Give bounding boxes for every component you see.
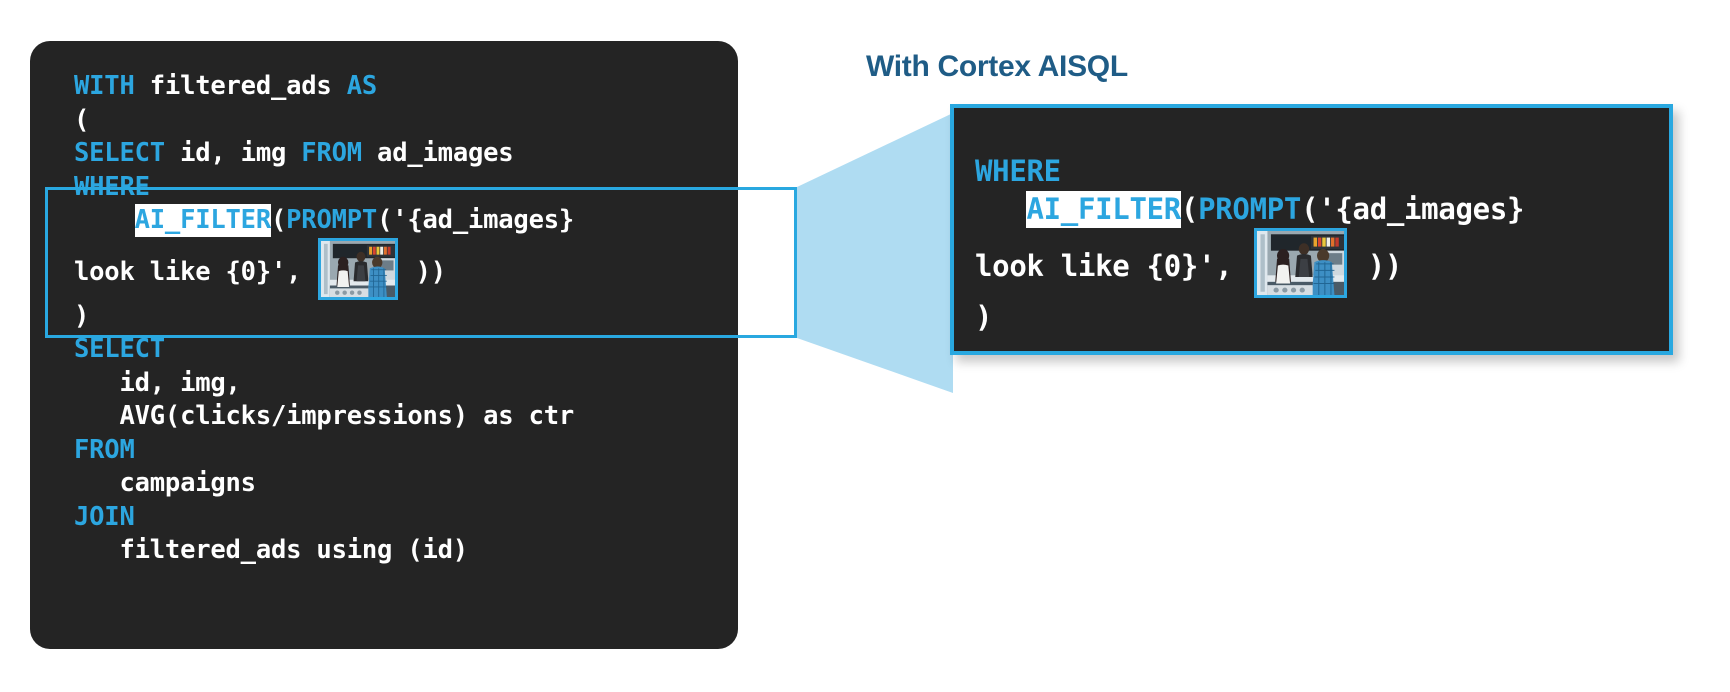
cortex-aisql-panel: WHERE AI_FILTER(PROMPT('{ad_images} look… <box>950 104 1673 355</box>
right-code-block: WHERE AI_FILTER(PROMPT('{ad_images} look… <box>975 152 1524 336</box>
sql-function: PROMPT <box>1198 192 1301 226</box>
ad-image-thumbnail <box>1254 228 1347 298</box>
left-code-block: WITH filtered_ads AS ( SELECT id, img FR… <box>74 70 574 568</box>
sql-keyword: WHERE <box>74 172 150 202</box>
code-text: ) <box>975 300 992 334</box>
code-text: ('{ad_images} <box>1301 192 1524 226</box>
code-text: look like {0}', <box>74 257 316 287</box>
code-text: campaigns <box>74 468 256 498</box>
ad-image-thumbnail <box>318 238 398 300</box>
code-text: look like {0}', <box>975 249 1250 283</box>
sql-keyword: WHERE <box>975 154 1061 188</box>
code-text <box>74 205 135 235</box>
code-text: ) <box>74 301 89 331</box>
sql-keyword: SELECT <box>74 334 165 364</box>
code-text: ( <box>1181 192 1198 226</box>
sql-query-card: WITH filtered_ads AS ( SELECT id, img FR… <box>30 41 738 649</box>
sql-function: PROMPT <box>286 205 377 235</box>
connector-trapezoid <box>797 113 953 393</box>
sql-keyword: JOIN <box>74 502 135 532</box>
sql-keyword: AS <box>347 71 377 101</box>
code-text: )) <box>400 257 445 287</box>
code-text: ( <box>271 205 286 235</box>
ai-filter-token: AI_FILTER <box>135 204 271 237</box>
code-text: ( <box>74 105 89 135</box>
sql-keyword: WITH <box>74 71 135 101</box>
code-text: ('{ad_images} <box>377 205 574 235</box>
code-text: AVG(clicks/impressions) as ctr <box>74 401 574 431</box>
code-text: )) <box>1351 249 1402 283</box>
sql-keyword: FROM <box>301 138 362 168</box>
ai-filter-token: AI_FILTER <box>1026 191 1180 228</box>
page-title: With Cortex AISQL <box>866 50 1128 84</box>
sql-keyword: FROM <box>74 435 135 465</box>
sql-keyword: SELECT <box>74 138 165 168</box>
code-text <box>975 192 1026 226</box>
zoom-callout-connector <box>735 100 965 410</box>
code-text: filtered_ads <box>135 71 347 101</box>
code-text: ad_images <box>362 138 514 168</box>
code-text: id, img <box>165 138 301 168</box>
code-text: filtered_ads using (id) <box>74 535 468 565</box>
code-text: id, img, <box>74 368 241 398</box>
